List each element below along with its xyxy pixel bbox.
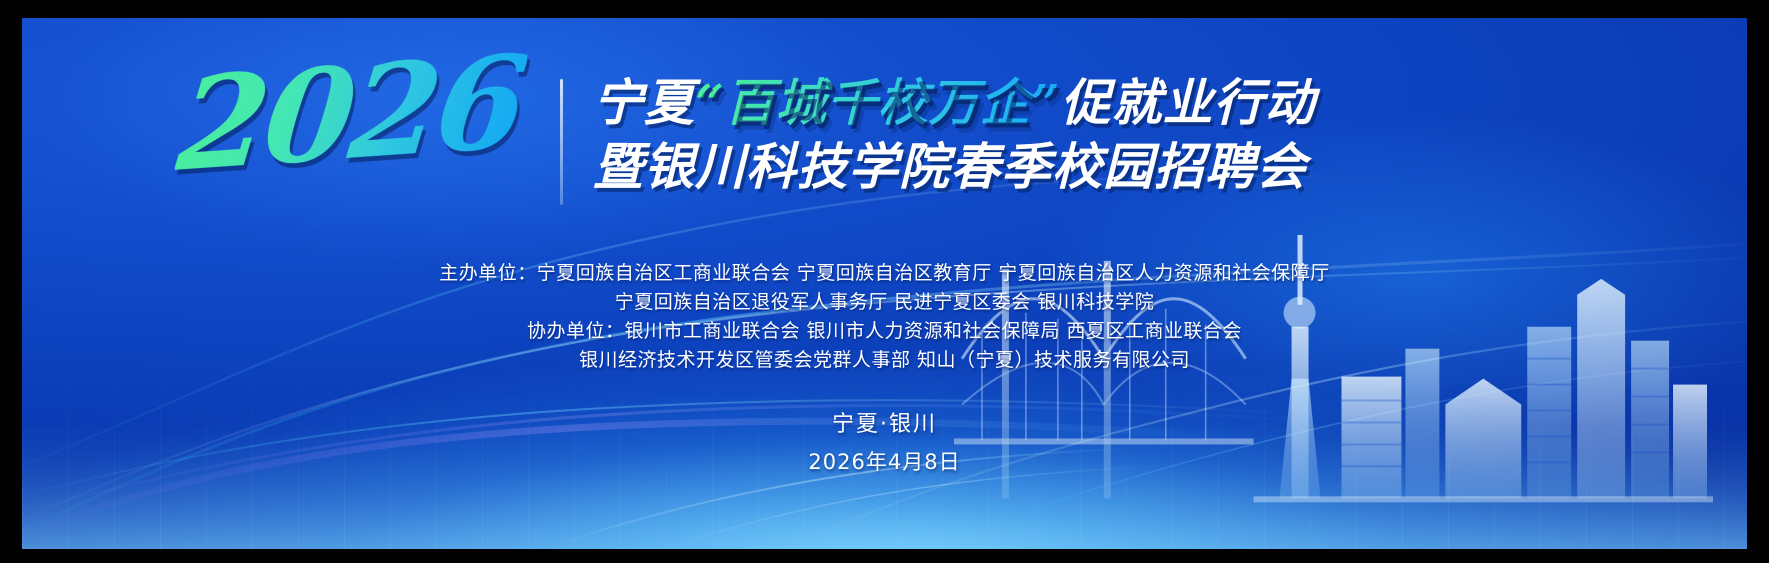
- event-date: 2026年4月8日: [22, 447, 1747, 479]
- organizer-line: 宁夏回族自治区退役军人事务厅 民进宁夏区委会 银川科技学院: [22, 288, 1747, 317]
- headline-line-1: 宁夏“百城千校万企”促就业行动: [593, 74, 1316, 132]
- headline: 宁夏“百城千校万企”促就业行动 暨银川科技学院春季校园招聘会: [593, 74, 1316, 196]
- event-location: 宁夏·银川: [22, 408, 1747, 441]
- headline-suffix: 促就业行动: [1061, 74, 1316, 132]
- year-2026-mark: 2026: [172, 38, 529, 189]
- organizers-block: 主办单位：宁夏回族自治区工商业联合会 宁夏回族自治区教育厅 宁夏回族自治区人力资…: [22, 259, 1747, 375]
- headline-line-2: 暨银川科技学院春季校园招聘会: [593, 138, 1316, 196]
- headline-prefix: 宁夏: [593, 74, 695, 132]
- organizer-line: 协办单位：银川市工商业联合会 银川市人力资源和社会保障局 西夏区工商业联合会: [22, 317, 1747, 346]
- organizer-line: 银川经济技术开发区管委会党群人事部 知山（宁夏）技术服务有限公司: [22, 346, 1747, 375]
- event-banner: 2026 宁夏“百城千校万企”促就业行动 暨银川科技学院春季校园招聘会 主办单位…: [0, 0, 1769, 563]
- organizer-line: 主办单位：宁夏回族自治区工商业联合会 宁夏回族自治区教育厅 宁夏回族自治区人力资…: [22, 259, 1747, 288]
- poster-artwork: 2026 宁夏“百城千校万企”促就业行动 暨银川科技学院春季校园招聘会 主办单位…: [22, 18, 1747, 549]
- headline-quoted-phrase: “百城千校万企”: [695, 73, 1061, 132]
- title-divider: [560, 79, 563, 205]
- event-footer: 宁夏·银川 2026年4月8日: [22, 408, 1747, 479]
